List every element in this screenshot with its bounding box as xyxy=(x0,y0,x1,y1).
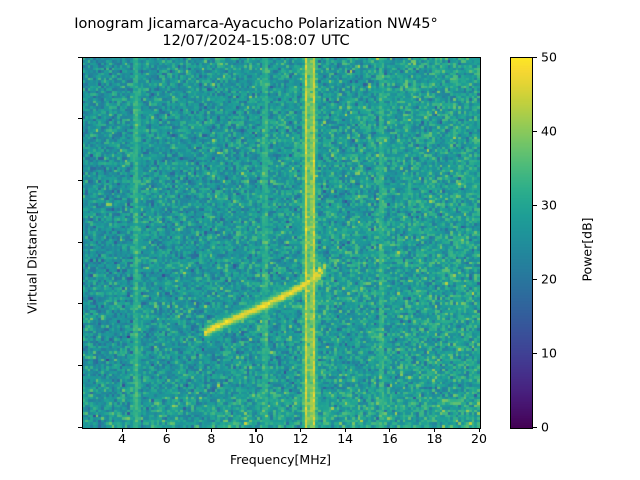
y-axis-label: Virtual Distance[km] xyxy=(25,150,40,350)
x-axis-label: Frequency[MHz] xyxy=(82,452,479,467)
x-tick-label: 14 xyxy=(337,431,353,446)
colorbar-tick-mark xyxy=(533,131,537,132)
colorbar-tick-label: 30 xyxy=(541,198,557,213)
colorbar-gradient xyxy=(511,58,532,428)
x-tick-label: 20 xyxy=(471,431,487,446)
x-tick-label: 10 xyxy=(248,431,264,446)
colorbar-tick-mark xyxy=(533,279,537,280)
x-tick-label: 16 xyxy=(382,431,398,446)
x-tick-label: 6 xyxy=(163,431,171,446)
colorbar-tick-label: 40 xyxy=(541,124,557,139)
colorbar-tick-label: 20 xyxy=(541,272,557,287)
y-tick-mark xyxy=(78,118,82,119)
x-tick-label: 8 xyxy=(207,431,215,446)
colorbar-label: Power[dB] xyxy=(580,160,595,340)
colorbar-tick-label: 10 xyxy=(541,346,557,361)
y-tick-mark xyxy=(78,303,82,304)
x-tick-label: 4 xyxy=(118,431,126,446)
y-tick-mark xyxy=(78,365,82,366)
colorbar-tick-mark xyxy=(533,353,537,354)
y-tick-mark xyxy=(78,57,82,58)
colorbar-tick-mark xyxy=(533,57,537,58)
colorbar-tick-label: 0 xyxy=(541,420,549,435)
x-tick-label: 18 xyxy=(426,431,442,446)
y-tick-mark xyxy=(78,242,82,243)
colorbar-tick-mark xyxy=(533,427,537,428)
ionogram-plot-area xyxy=(82,57,481,429)
ionogram-heatmap xyxy=(83,58,480,428)
colorbar-tick-label: 50 xyxy=(541,50,557,65)
colorbar xyxy=(510,57,533,429)
y-tick-mark xyxy=(78,180,82,181)
colorbar-tick-mark xyxy=(533,205,537,206)
x-tick-label: 12 xyxy=(293,431,309,446)
ionogram-figure: Ionogram Jicamarca-Ayacucho Polarization… xyxy=(0,0,640,480)
page-title: Ionogram Jicamarca-Ayacucho Polarization… xyxy=(0,16,512,50)
y-tick-mark xyxy=(78,427,82,428)
